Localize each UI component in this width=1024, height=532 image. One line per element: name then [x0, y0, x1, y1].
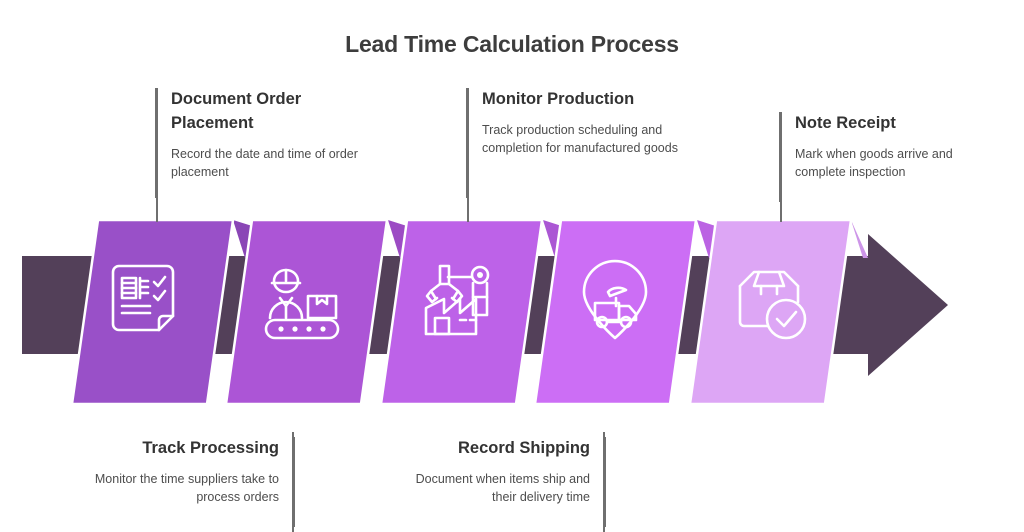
callout-rule: [293, 437, 295, 527]
callout-heading-2: Track Processing: [80, 437, 279, 461]
callout-step-5: Note Receipt Mark when goods arrive and …: [779, 112, 979, 202]
callout-rule: [466, 88, 468, 198]
callout-rule: [155, 88, 157, 198]
callout-heading-5: Note Receipt: [795, 112, 979, 136]
infographic-canvas: Lead Time Calculation Process: [0, 0, 1024, 532]
step-card-5[interactable]: [690, 220, 851, 404]
callout-heading-4: Record Shipping: [391, 437, 590, 461]
callout-rule: [604, 437, 606, 527]
step-card-1[interactable]: [72, 220, 233, 404]
callout-heading-1: Document Order Placement: [171, 88, 370, 136]
callout-heading-3: Monitor Production: [482, 88, 681, 112]
callout-body-4: Document when items ship and their deliv…: [391, 461, 590, 506]
step-card-4[interactable]: [535, 220, 696, 404]
callout-step-2: Track Processing Monitor the time suppli…: [80, 437, 295, 527]
step-card-2[interactable]: [226, 220, 387, 404]
callout-body-1: Record the date and time of order placem…: [171, 136, 370, 181]
callout-step-3: Monitor Production Track production sche…: [466, 88, 681, 198]
callout-body-2: Monitor the time suppliers take to proce…: [80, 461, 279, 506]
callout-rule: [779, 112, 781, 202]
callout-step-4: Record Shipping Document when items ship…: [391, 437, 606, 527]
fold-top-5: [851, 220, 868, 258]
callout-body-3: Track production scheduling and completi…: [482, 112, 681, 157]
callout-body-5: Mark when goods arrive and complete insp…: [795, 136, 979, 181]
callout-step-1: Document Order Placement Record the date…: [155, 88, 370, 198]
